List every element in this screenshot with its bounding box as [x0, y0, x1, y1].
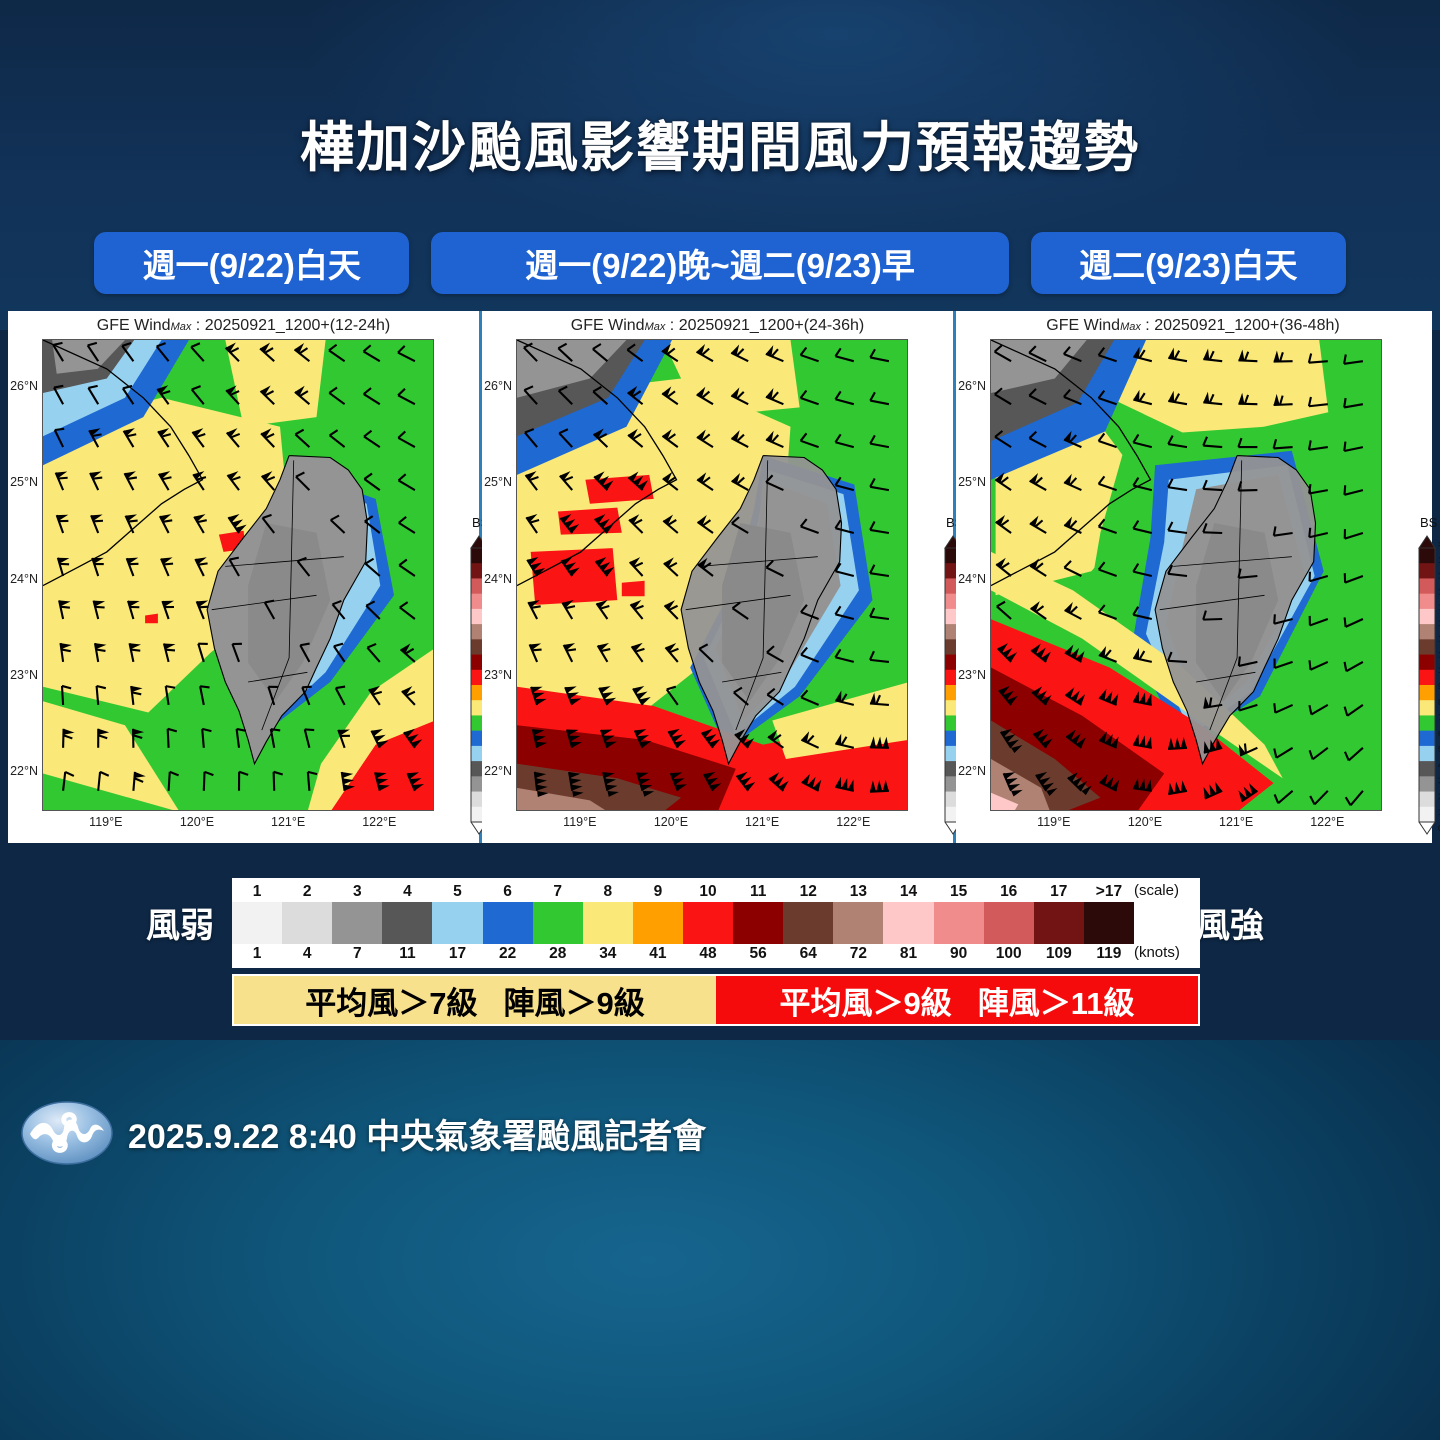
color-swatch: [533, 902, 583, 944]
color-swatch: [683, 902, 733, 944]
scale-tick: 5: [432, 882, 482, 902]
color-swatch: [432, 902, 482, 944]
wind-field-map-1[interactable]: [42, 339, 434, 811]
threshold-yellow: 平均風＞7級 陣風＞9級: [234, 976, 716, 1024]
color-swatch-strip: [232, 902, 1200, 944]
knots-tick: 109: [1034, 944, 1084, 964]
x-axis-tick: 119°E: [76, 815, 136, 829]
scale-unit-label: (scale): [1134, 882, 1200, 902]
panel-title-12-24h: GFE WindMax : 20250921_1200+(12-24h): [8, 317, 479, 335]
panel-title-suffix: : 20250921_1200+(24-36h): [665, 317, 864, 334]
map-panel-36-48h[interactable]: GFE WindMax : 20250921_1200+(36-48h) BS …: [956, 311, 1430, 843]
panel-title-36-48h: GFE WindMax : 20250921_1200+(36-48h): [956, 317, 1430, 335]
threshold-red: 平均風＞9級 陣風＞11級: [716, 976, 1198, 1024]
color-swatch: [1034, 902, 1084, 944]
map-panel-24-36h[interactable]: GFE WindMax : 20250921_1200+(24-36h) BS …: [482, 311, 956, 843]
x-axis-tick: 119°E: [550, 815, 610, 829]
x-axis-tick: 122°E: [1297, 815, 1357, 829]
scale-tick: 7: [533, 882, 583, 902]
knots-tick: 7: [332, 944, 382, 964]
x-axis-tick: 121°E: [1206, 815, 1266, 829]
panel-title-prefix: GFE Wind: [1046, 317, 1120, 334]
scale-tick: 14: [883, 882, 933, 902]
scale-tick: 10: [683, 882, 733, 902]
scale-tick: 15: [934, 882, 984, 902]
y-axis-tick: 25°N: [0, 475, 38, 489]
threshold-yellow-mean: 平均風＞7級: [305, 978, 477, 1023]
footer: 2025.9.22 8:40 中央氣象署颱風記者會: [20, 1098, 706, 1168]
knots-tick: 22: [483, 944, 533, 964]
y-axis-tick: 26°N: [0, 379, 38, 393]
y-axis-tick: 22°N: [926, 764, 986, 778]
y-axis-tick: 22°N: [452, 764, 512, 778]
scale-tick: 8: [583, 882, 633, 902]
x-axis-tick: 122°E: [823, 815, 883, 829]
y-axis-tick: 26°N: [926, 379, 986, 393]
panel-title-24-36h: GFE WindMax : 20250921_1200+(24-36h): [482, 317, 953, 335]
knots-tick-row: 147111722283441485664728190100109119(kno…: [232, 944, 1200, 964]
x-axis-tick: 121°E: [732, 815, 792, 829]
panel-title-prefix: GFE Wind: [571, 317, 645, 334]
color-swatch: [783, 902, 833, 944]
scale-colorbar: 1234567891011121314151617>17(scale) 1471…: [232, 878, 1200, 968]
scale-tick: >17: [1084, 882, 1134, 902]
swatch-strip-pad: [1134, 902, 1200, 944]
x-axis-tick: 122°E: [349, 815, 409, 829]
y-axis-tick: 24°N: [452, 572, 512, 586]
panel-title-subscript: Max: [1120, 321, 1141, 333]
panel-title-suffix: : 20250921_1200+(12-24h): [191, 317, 390, 334]
knots-tick: 4: [282, 944, 332, 964]
panel-title-suffix: : 20250921_1200+(36-48h): [1141, 317, 1340, 334]
knots-tick: 48: [683, 944, 733, 964]
color-swatch: [483, 902, 533, 944]
footer-caption: 2025.9.22 8:40 中央氣象署颱風記者會: [128, 1109, 706, 1158]
threshold-red-mean: 平均風＞9級: [779, 978, 951, 1023]
panel-title-prefix: GFE Wind: [97, 317, 171, 334]
y-axis-tick: 23°N: [0, 668, 38, 682]
knots-unit-label: (knots): [1134, 944, 1200, 964]
x-axis-tick: 121°E: [258, 815, 318, 829]
wind-field-map-3[interactable]: [990, 339, 1382, 811]
knots-tick: 81: [883, 944, 933, 964]
color-swatch: [984, 902, 1034, 944]
legend-zone: 風弱 風強 1234567891011121314151617>17(scale…: [0, 872, 1440, 1032]
scale-tick: 17: [1034, 882, 1084, 902]
color-swatch: [332, 902, 382, 944]
threshold-bar: 平均風＞7級 陣風＞9級 平均風＞9級 陣風＞11級: [232, 974, 1200, 1026]
threshold-yellow-gust: 陣風＞9級: [504, 978, 645, 1023]
scale-tick: 6: [483, 882, 533, 902]
color-swatch: [232, 902, 282, 944]
threshold-red-gust: 陣風＞11級: [978, 978, 1135, 1023]
knots-tick: 17: [432, 944, 482, 964]
knots-tick: 72: [833, 944, 883, 964]
scale-tick: 2: [282, 882, 332, 902]
knots-tick: 100: [984, 944, 1034, 964]
knots-tick: 11: [382, 944, 432, 964]
bs-colorbar-label-3: BS: [1420, 515, 1437, 530]
y-axis-tick: 25°N: [452, 475, 512, 489]
y-axis-tick: 23°N: [926, 668, 986, 682]
knots-tick: 34: [583, 944, 633, 964]
plot-wrapper-3: BS >1717161514131211109876543210 26°N25°…: [990, 339, 1382, 811]
color-swatch: [733, 902, 783, 944]
knots-tick: 28: [533, 944, 583, 964]
knots-tick: 41: [633, 944, 683, 964]
tab-tuesday-day[interactable]: 週二(9/23)白天: [1031, 232, 1346, 294]
scale-tick: 13: [833, 882, 883, 902]
color-swatch: [633, 902, 683, 944]
wind-field-map-2[interactable]: [516, 339, 908, 811]
tab-monday-day[interactable]: 週一(9/22)白天: [94, 232, 409, 294]
color-swatch: [934, 902, 984, 944]
knots-tick: 64: [783, 944, 833, 964]
wind-weak-label: 風弱: [146, 898, 214, 947]
bs-colorbar-3: >1717161514131211109876543210: [1418, 535, 1440, 848]
tab-monday-night-tuesday-morning[interactable]: 週一(9/22)晚~週二(9/23)早: [431, 232, 1008, 294]
forecast-map-strip: GFE WindMax : 20250921_1200+(12-24h) BS …: [8, 311, 1432, 843]
color-swatch: [282, 902, 332, 944]
y-axis-tick: 24°N: [0, 572, 38, 586]
panel-title-subscript: Max: [645, 321, 666, 333]
knots-tick: 56: [733, 944, 783, 964]
y-axis-tick: 26°N: [452, 379, 512, 393]
scale-tick-row: 1234567891011121314151617>17(scale): [232, 882, 1200, 902]
knots-tick: 119: [1084, 944, 1134, 964]
color-swatch: [833, 902, 883, 944]
panel-title-subscript: Max: [171, 321, 192, 333]
color-swatch: [382, 902, 432, 944]
period-tabs: 週一(9/22)白天 週一(9/22)晚~週二(9/23)早 週二(9/23)白…: [94, 232, 1346, 294]
scale-tick: 3: [332, 882, 382, 902]
color-swatch: [1084, 902, 1134, 944]
scale-tick: 1: [232, 882, 282, 902]
y-axis-tick: 25°N: [926, 475, 986, 489]
knots-tick: 90: [934, 944, 984, 964]
x-axis-tick: 119°E: [1024, 815, 1084, 829]
x-axis-tick: 120°E: [167, 815, 227, 829]
scale-tick: 16: [984, 882, 1034, 902]
cwa-logo: [20, 1100, 114, 1166]
scale-tick: 11: [733, 882, 783, 902]
scale-tick: 12: [783, 882, 833, 902]
x-axis-tick: 120°E: [641, 815, 701, 829]
color-swatch: [583, 902, 633, 944]
page-title: 樺加沙颱風影響期間風力預報趨勢: [0, 103, 1440, 182]
plot-wrapper-1: BS >1717161514131211109876543210 26°N25°…: [42, 339, 434, 811]
color-swatch: [883, 902, 933, 944]
y-axis-tick: 23°N: [452, 668, 512, 682]
scale-tick: 4: [382, 882, 432, 902]
map-panel-12-24h[interactable]: GFE WindMax : 20250921_1200+(12-24h) BS …: [8, 311, 482, 843]
y-axis-tick: 22°N: [0, 764, 38, 778]
x-axis-tick: 120°E: [1115, 815, 1175, 829]
plot-wrapper-2: BS >1717161514131211109876543210 26°N25°…: [516, 339, 908, 811]
scale-tick: 9: [633, 882, 683, 902]
wind-strong-label: 風強: [1196, 898, 1264, 947]
knots-tick: 1: [232, 944, 282, 964]
y-axis-tick: 24°N: [926, 572, 986, 586]
